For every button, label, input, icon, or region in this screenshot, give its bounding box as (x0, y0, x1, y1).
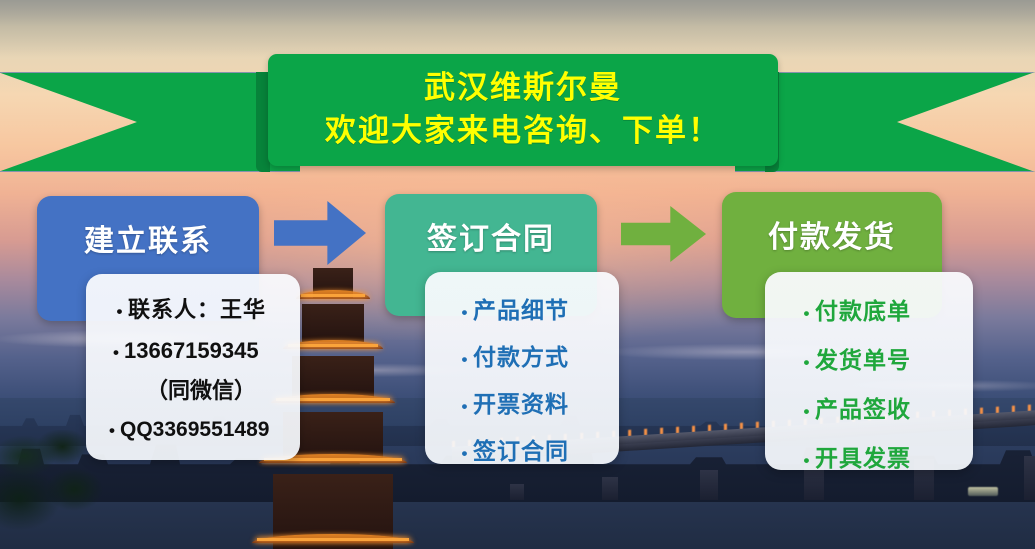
tower-light-trim (288, 344, 378, 347)
slide-canvas: 武汉维斯尔曼 欢迎大家来电咨询、下单！ 建立联系 • 联系人：王华 • 1366… (0, 0, 1035, 549)
bullet-icon: • (799, 291, 815, 337)
list-item: • QQ3369551489 (96, 410, 290, 451)
step-card-body-establish-contact: • 联系人：王华 • 13667159345 （同微信） • QQ3369551… (86, 274, 300, 460)
arrow-shape (274, 201, 366, 265)
shipping-item-2: 发货单号 (815, 337, 911, 383)
river-boat (968, 487, 998, 496)
bridge-pier (1024, 456, 1035, 500)
list-item: • 发货单号 (775, 337, 963, 386)
tower-light-trim (301, 294, 365, 297)
ribbon-tail-right (735, 72, 1035, 172)
step-title-establish-contact: 建立联系 (84, 196, 212, 260)
list-item: • 产品细节 (435, 288, 609, 335)
contact-list: • 联系人：王华 • 13667159345 （同微信） • QQ3369551… (96, 290, 290, 451)
contact-phone-note: （同微信） (96, 372, 290, 410)
bullet-icon: • (457, 338, 473, 382)
step-card-body-sign-contract: • 产品细节 • 付款方式 • 开票资料 • 签订合同 (425, 272, 619, 464)
step-title-payment-shipping: 付款发货 (768, 192, 896, 256)
bullet-icon: • (112, 292, 128, 332)
banner-ribbon: 武汉维斯尔曼 欢迎大家来电咨询、下单！ (0, 0, 1035, 190)
step-title-sign-contract: 签订合同 (427, 194, 555, 258)
list-item: • 付款底单 (775, 288, 963, 337)
list-item: • 13667159345 (96, 332, 290, 372)
bullet-icon: • (799, 438, 815, 484)
contract-item-4: 签订合同 (473, 429, 569, 473)
bullet-icon: • (457, 291, 473, 335)
contract-item-1: 产品细节 (473, 288, 569, 332)
tower-tier (292, 356, 374, 398)
contract-item-3: 开票资料 (473, 382, 569, 426)
contact-qq: QQ3369551489 (120, 410, 269, 450)
list-item: • 付款方式 (435, 335, 609, 382)
bullet-icon: • (799, 389, 815, 435)
arrow-right-icon-step2-to-step3 (621, 206, 706, 262)
bullet-icon: • (457, 385, 473, 429)
list-item: • 签订合同 (435, 429, 609, 476)
list-item: • 开具发票 (775, 435, 963, 484)
bullet-icon: • (457, 432, 473, 476)
banner-title: 武汉维斯尔曼 (424, 67, 622, 109)
contact-person: 联系人：王华 (128, 290, 266, 330)
list-item: • 开票资料 (435, 382, 609, 429)
list-item: • 联系人：王华 (96, 290, 290, 332)
shipping-item-4: 开具发票 (815, 435, 911, 481)
tower-light-trim (257, 538, 409, 541)
step-card-body-payment-shipping: • 付款底单 • 发货单号 • 产品签收 • 开具发票 (765, 272, 973, 470)
bullet-icon: • (108, 334, 124, 372)
ribbon-tail-left (0, 72, 300, 172)
bridge-pier (602, 477, 618, 500)
contract-item-2: 付款方式 (473, 335, 569, 379)
bullet-icon: • (799, 340, 815, 386)
tower-tier (302, 304, 364, 342)
contract-list: • 产品细节 • 付款方式 • 开票资料 • 签订合同 (435, 288, 609, 476)
bridge-pier (510, 484, 524, 500)
bullet-icon: • (104, 411, 120, 451)
shipping-item-1: 付款底单 (815, 288, 911, 334)
banner-panel: 武汉维斯尔曼 欢迎大家来电咨询、下单！ (268, 54, 778, 166)
shipping-item-3: 产品签收 (815, 386, 911, 432)
list-item: • 产品签收 (775, 386, 963, 435)
bridge-pier (700, 470, 718, 500)
banner-subtitle: 欢迎大家来电咨询、下单！ (325, 109, 721, 153)
arrow-right-icon-step1-to-step2 (274, 201, 366, 265)
contact-phone: 13667159345 (124, 332, 259, 370)
arrow-shape (621, 206, 706, 262)
shipping-list: • 付款底单 • 发货单号 • 产品签收 • 开具发票 (775, 288, 963, 484)
